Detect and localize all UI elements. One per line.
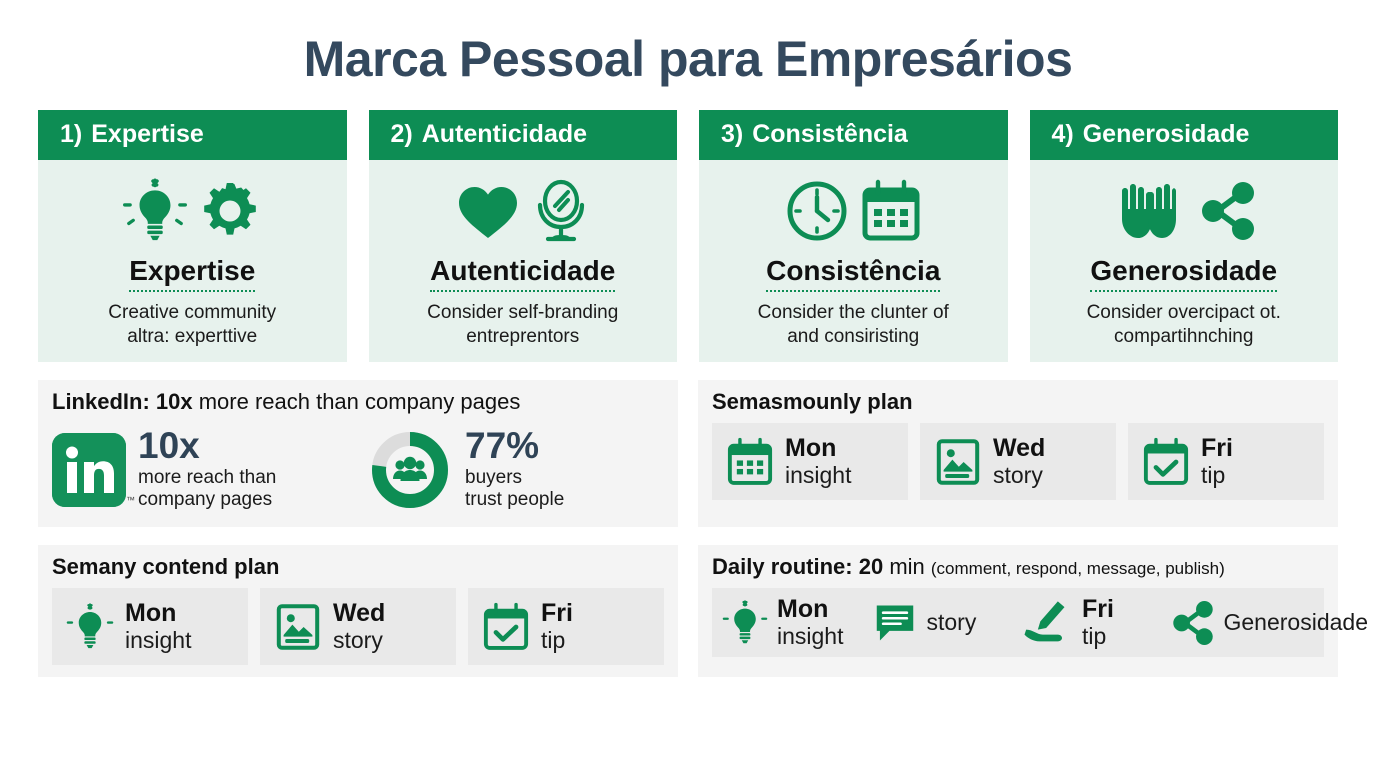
card-desc-line1: Consider the clunter of	[758, 301, 949, 325]
lightbulb-icon	[66, 601, 114, 653]
list-item-text: Fri tip	[1082, 596, 1114, 649]
routine-day: Fri	[1082, 596, 1114, 622]
content-plan-header: Semany contend plan	[38, 545, 678, 588]
card-body: Consistência Consider the clunter of and…	[699, 160, 1008, 362]
card-desc-line1: Creative community	[108, 301, 276, 325]
card-header-label: Expertise	[91, 120, 204, 148]
clock-icon	[784, 178, 850, 244]
tile-day: Mon	[785, 435, 851, 461]
lower-panels: LinkedIn: 10x more reach than company pa…	[0, 380, 1376, 677]
stat-reach-value: 10x	[138, 428, 276, 463]
list-item-text: Mon insight	[785, 435, 851, 488]
pillar-card-autenticidade[interactable]: 2)Autenticidade	[369, 110, 678, 362]
tile-kind: tip	[541, 627, 573, 653]
stat-reach: ™ 10x more reach than company pages	[52, 428, 349, 512]
card-icon-group	[122, 172, 262, 250]
weekly-plan-tiles: Mon insight Wed	[698, 423, 1338, 512]
stat-trust-caption: buyers trust people	[465, 467, 564, 513]
tile-day: Mon	[125, 600, 191, 626]
card-icon-group	[784, 172, 922, 250]
list-item-text: Fri tip	[1201, 435, 1233, 488]
card-desc-line2: compartihnching	[1087, 325, 1281, 349]
list-item[interactable]: Mon insight	[722, 596, 866, 649]
stat-reach-caption: more reach than company pages	[138, 467, 276, 513]
tile-day: Fri	[1201, 435, 1233, 461]
card-header-label: Generosidade	[1083, 120, 1250, 148]
card-body: Generosidade Consider overcipact ot. com…	[1030, 160, 1339, 362]
routine-head-unit: min	[889, 554, 924, 579]
list-item[interactable]: Mon insight	[712, 423, 908, 500]
daily-routine-items: Mon insight	[712, 588, 1324, 657]
card-description: Consider the clunter of and consiristing	[758, 301, 949, 349]
linkedin-logo-icon: ™	[52, 433, 126, 507]
pencil-hand-icon	[1021, 598, 1073, 648]
card-title: Autenticidade	[430, 256, 615, 292]
list-item-text: Generosidade	[1224, 609, 1369, 636]
tile-day: Wed	[993, 435, 1045, 461]
stat-reach-line2: company pages	[138, 489, 276, 512]
stat-trust: 77% buyers trust people	[367, 427, 664, 513]
list-item-text: Fri tip	[541, 600, 573, 653]
list-item-text: Mon insight	[777, 596, 843, 649]
page-title: Marca Pessoal para Empresários	[0, 0, 1376, 84]
weekly-plan-panel: Semasmounly plan	[698, 380, 1338, 527]
linkedin-head-bold: LinkedIn: 10x	[52, 389, 193, 414]
pillar-card-consistencia[interactable]: 3)Consistência	[699, 110, 1008, 362]
tile-day: Wed	[333, 600, 385, 626]
card-description: Consider self-branding entreprentors	[427, 301, 618, 349]
linkedin-head-rest: more reach than company pages	[193, 389, 521, 414]
linkedin-panel-header: LinkedIn: 10x more reach than company pa…	[38, 380, 678, 423]
pillar-card-expertise[interactable]: 1)Expertise	[38, 110, 347, 362]
tile-day: Fri	[541, 600, 573, 626]
weekly-plan-title: Semasmounly plan	[712, 389, 913, 414]
tile-kind: story	[333, 627, 385, 653]
tile-kind: tip	[1201, 462, 1233, 488]
speech-bubble-icon	[872, 600, 918, 646]
tile-kind: insight	[785, 462, 851, 488]
content-plan-panel: Semany contend plan	[38, 545, 678, 677]
card-number: 1)	[60, 120, 82, 148]
stat-trust-text: 77% buyers trust people	[465, 428, 564, 512]
routine-head-note: (comment, respond, message, publish)	[931, 559, 1225, 578]
card-header-label: Autenticidade	[422, 120, 587, 148]
image-icon	[934, 436, 982, 488]
weekly-plan-header: Semasmounly plan	[698, 380, 1338, 423]
pillar-card-generosidade[interactable]: 4)Generosidade	[1030, 110, 1339, 362]
card-header: 4)Generosidade	[1030, 110, 1339, 160]
routine-head-bold: Daily routine:	[712, 554, 853, 579]
card-number: 2)	[391, 120, 413, 148]
trademark-mark: ™	[126, 495, 135, 505]
routine-kind: story	[927, 609, 977, 636]
card-icon-group	[1111, 172, 1257, 250]
image-icon	[274, 601, 322, 653]
card-title: Expertise	[129, 256, 255, 292]
card-desc-line2: altra: experttive	[108, 325, 276, 349]
list-item[interactable]: Wed story	[260, 588, 456, 665]
share-icon	[1199, 180, 1257, 242]
stat-trust-line2: trust people	[465, 489, 564, 512]
card-description: Creative community altra: experttive	[108, 301, 276, 349]
card-body: Expertise Creative community altra: expe…	[38, 160, 347, 362]
stat-trust-value: 77%	[465, 428, 564, 463]
card-header: 3)Consistência	[699, 110, 1008, 160]
routine-day: Mon	[777, 596, 843, 622]
routine-head-number: 20	[859, 554, 883, 579]
card-desc-line2: entreprentors	[427, 325, 618, 349]
giving-hands-icon	[1111, 178, 1189, 244]
share-icon	[1171, 599, 1215, 647]
list-item-text: Mon insight	[125, 600, 191, 653]
routine-kind: tip	[1082, 623, 1114, 649]
list-item[interactable]: Fri tip	[1128, 423, 1324, 500]
list-item[interactable]: Fri tip	[1021, 596, 1165, 649]
routine-kind: Generosidade	[1224, 609, 1369, 636]
list-item-text: Wed story	[333, 600, 385, 653]
list-item[interactable]: story	[872, 600, 1016, 646]
calendar-check-icon	[482, 601, 530, 653]
card-header-label: Consistência	[752, 120, 908, 148]
list-item[interactable]: Mon insight	[52, 588, 248, 665]
stat-trust-line1: buyers	[465, 467, 564, 490]
linkedin-stats: ™ 10x more reach than company pages	[38, 423, 678, 527]
mirror-icon	[531, 177, 591, 245]
list-item-text: story	[927, 609, 977, 636]
card-number: 4)	[1052, 120, 1074, 148]
card-desc-line2: and consiristing	[758, 325, 949, 349]
tile-kind: insight	[125, 627, 191, 653]
calendar-icon	[726, 436, 774, 488]
heart-icon	[455, 180, 521, 242]
card-desc-line1: Consider overcipact ot.	[1087, 301, 1281, 325]
content-plan-title: Semany contend plan	[52, 554, 279, 579]
content-plan-tiles: Mon insight Wed	[38, 588, 678, 677]
card-icon-group	[455, 172, 591, 250]
list-item[interactable]: Wed story	[920, 423, 1116, 500]
card-description: Consider overcipact ot. compartihnching	[1087, 301, 1281, 349]
linkedin-panel: LinkedIn: 10x more reach than company pa…	[38, 380, 678, 527]
stat-reach-line1: more reach than	[138, 467, 276, 490]
lightbulb-icon	[722, 598, 768, 648]
daily-routine-panel: Daily routine: 20 min (comment, respond,…	[698, 545, 1338, 677]
card-desc-line1: Consider self-branding	[427, 301, 618, 325]
lightbulb-icon	[122, 178, 188, 244]
card-title: Generosidade	[1090, 256, 1277, 292]
gear-icon	[198, 179, 262, 243]
list-item[interactable]: Fri tip	[468, 588, 664, 665]
list-item-text: Wed story	[993, 435, 1045, 488]
tile-kind: story	[993, 462, 1045, 488]
list-item[interactable]: Generosidade	[1171, 599, 1315, 647]
card-number: 3)	[721, 120, 743, 148]
donut-people-icon	[367, 427, 453, 513]
calendar-check-icon	[1142, 436, 1190, 488]
calendar-icon	[860, 178, 922, 244]
routine-kind: insight	[777, 623, 843, 649]
infographic-page: Marca Pessoal para Empresários 1)Experti…	[0, 0, 1376, 768]
daily-routine-header: Daily routine: 20 min (comment, respond,…	[698, 545, 1338, 588]
pillar-cards: 1)Expertise	[0, 110, 1376, 362]
stat-reach-text: 10x more reach than company pages	[138, 428, 276, 512]
card-body: Autenticidade Consider self-branding ent…	[369, 160, 678, 362]
card-title: Consistência	[766, 256, 940, 292]
card-header: 1)Expertise	[38, 110, 347, 160]
card-header: 2)Autenticidade	[369, 110, 678, 160]
